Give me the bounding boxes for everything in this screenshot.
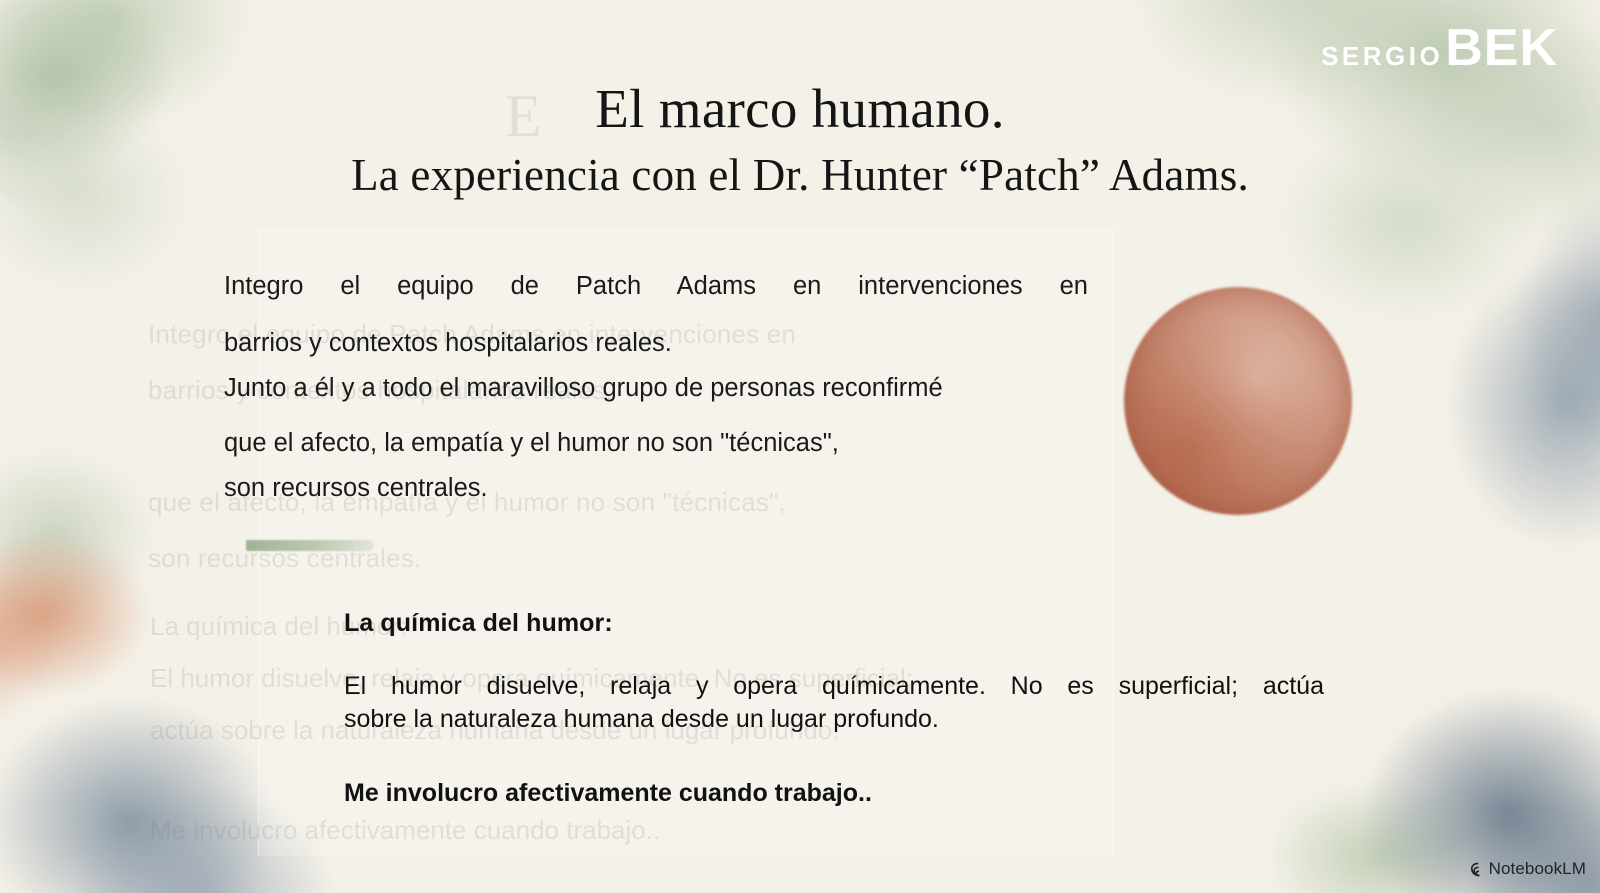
lower-heading: La química del humor: bbox=[344, 608, 1324, 638]
lower-body: El humor disuelve, relaja y opera químic… bbox=[344, 670, 1324, 736]
body-line-5: son recursos centrales. bbox=[224, 474, 1088, 503]
green-brush-dash bbox=[246, 540, 374, 551]
logo-mark-text: BEK bbox=[1445, 22, 1558, 74]
slide-canvas: E Integro el equipo de Patch Adams en in… bbox=[0, 0, 1600, 893]
body-line-4: que el afecto, la empatía y el humor no … bbox=[224, 429, 1088, 458]
brand-logo: SERGIO BEK bbox=[1321, 22, 1558, 74]
lower-body-line-1: El humor disuelve, relaja y opera químic… bbox=[344, 670, 1324, 703]
logo-prefix-text: SERGIO bbox=[1321, 41, 1443, 72]
watercolor-right-slate bbox=[1360, 195, 1600, 615]
notebooklm-watermark: NotebookLM bbox=[1462, 859, 1586, 879]
watercolor-bottom-left-slate bbox=[0, 673, 330, 893]
body-copy-block: Integro el equipo de Patch Adams en inte… bbox=[224, 272, 1088, 503]
lower-body-line-2: sobre la naturaleza humana desde un luga… bbox=[344, 703, 1324, 736]
page-subtitle: La experiencia con el Dr. Hunter “Patch”… bbox=[0, 146, 1600, 204]
ghost-lower-4: Me involucro afectivamente cuando trabaj… bbox=[150, 804, 1180, 856]
notebooklm-spiral-icon bbox=[1462, 860, 1481, 879]
watercolor-circle-terracotta bbox=[1124, 287, 1352, 515]
watercolor-bottom-left-orange bbox=[0, 493, 180, 743]
lower-footer: Me involucro afectivamente cuando trabaj… bbox=[344, 778, 1324, 808]
watercolor-bottom-left-sage bbox=[0, 413, 200, 643]
slide-title-block: El marco humano. La experiencia con el D… bbox=[0, 78, 1600, 204]
ghost-line-4: son recursos centrales. bbox=[148, 530, 1048, 586]
body-line-1: Integro el equipo de Patch Adams en inte… bbox=[224, 272, 1088, 301]
body-line-2: barrios y contextos hospitalarios reales… bbox=[224, 329, 1088, 358]
lower-section-block: La química del humor: El humor disuelve,… bbox=[344, 608, 1324, 808]
page-title: El marco humano. bbox=[0, 78, 1600, 140]
body-line-3: Junto a él y a todo el maravilloso grupo… bbox=[224, 374, 1088, 403]
notebooklm-label: NotebookLM bbox=[1489, 859, 1586, 879]
